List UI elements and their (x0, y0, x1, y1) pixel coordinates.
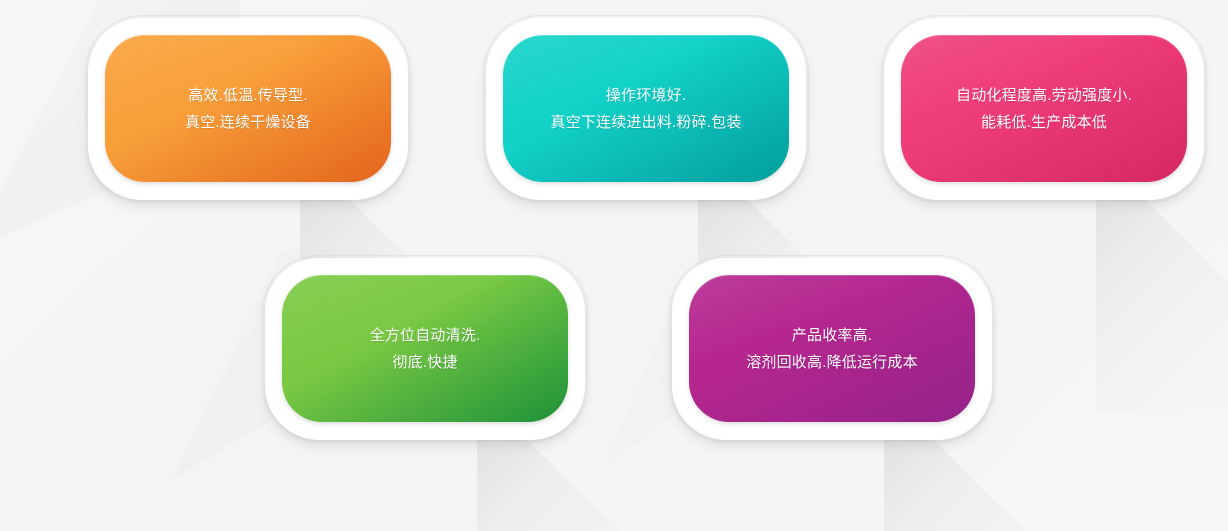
cards-stage: 高效.低温.传导型. 真空.连续干燥设备 操作环境好. 真空下连续进出料.粉碎.… (0, 0, 1228, 531)
feature-card-auto-cleaning[interactable]: 全方位自动清洗. 彻底.快捷 (265, 258, 585, 440)
feature-card-operating-environment[interactable]: 操作环境好. 真空下连续进出料.粉碎.包装 (486, 18, 806, 200)
card-panel: 操作环境好. 真空下连续进出料.粉碎.包装 (503, 35, 789, 182)
card-panel: 全方位自动清洗. 彻底.快捷 (282, 275, 568, 422)
feature-card-product-yield[interactable]: 产品收率高. 溶剂回收高.降低运行成本 (672, 258, 992, 440)
card-text: 全方位自动清洗. 彻底.快捷 (356, 322, 495, 376)
card-text: 产品收率高. 溶剂回收高.降低运行成本 (732, 322, 932, 376)
feature-card-drying-equipment[interactable]: 高效.低温.传导型. 真空.连续干燥设备 (88, 18, 408, 200)
card-panel: 自动化程度高.劳动强度小. 能耗低.生产成本低 (901, 35, 1187, 182)
card-text: 操作环境好. 真空下连续进出料.粉碎.包装 (536, 82, 755, 136)
card-panel: 高效.低温.传导型. 真空.连续干燥设备 (105, 35, 391, 182)
card-panel: 产品收率高. 溶剂回收高.降低运行成本 (689, 275, 975, 422)
card-text: 高效.低温.传导型. 真空.连续干燥设备 (171, 82, 325, 136)
card-text: 自动化程度高.劳动强度小. 能耗低.生产成本低 (942, 82, 1146, 136)
feature-card-automation[interactable]: 自动化程度高.劳动强度小. 能耗低.生产成本低 (884, 18, 1204, 200)
